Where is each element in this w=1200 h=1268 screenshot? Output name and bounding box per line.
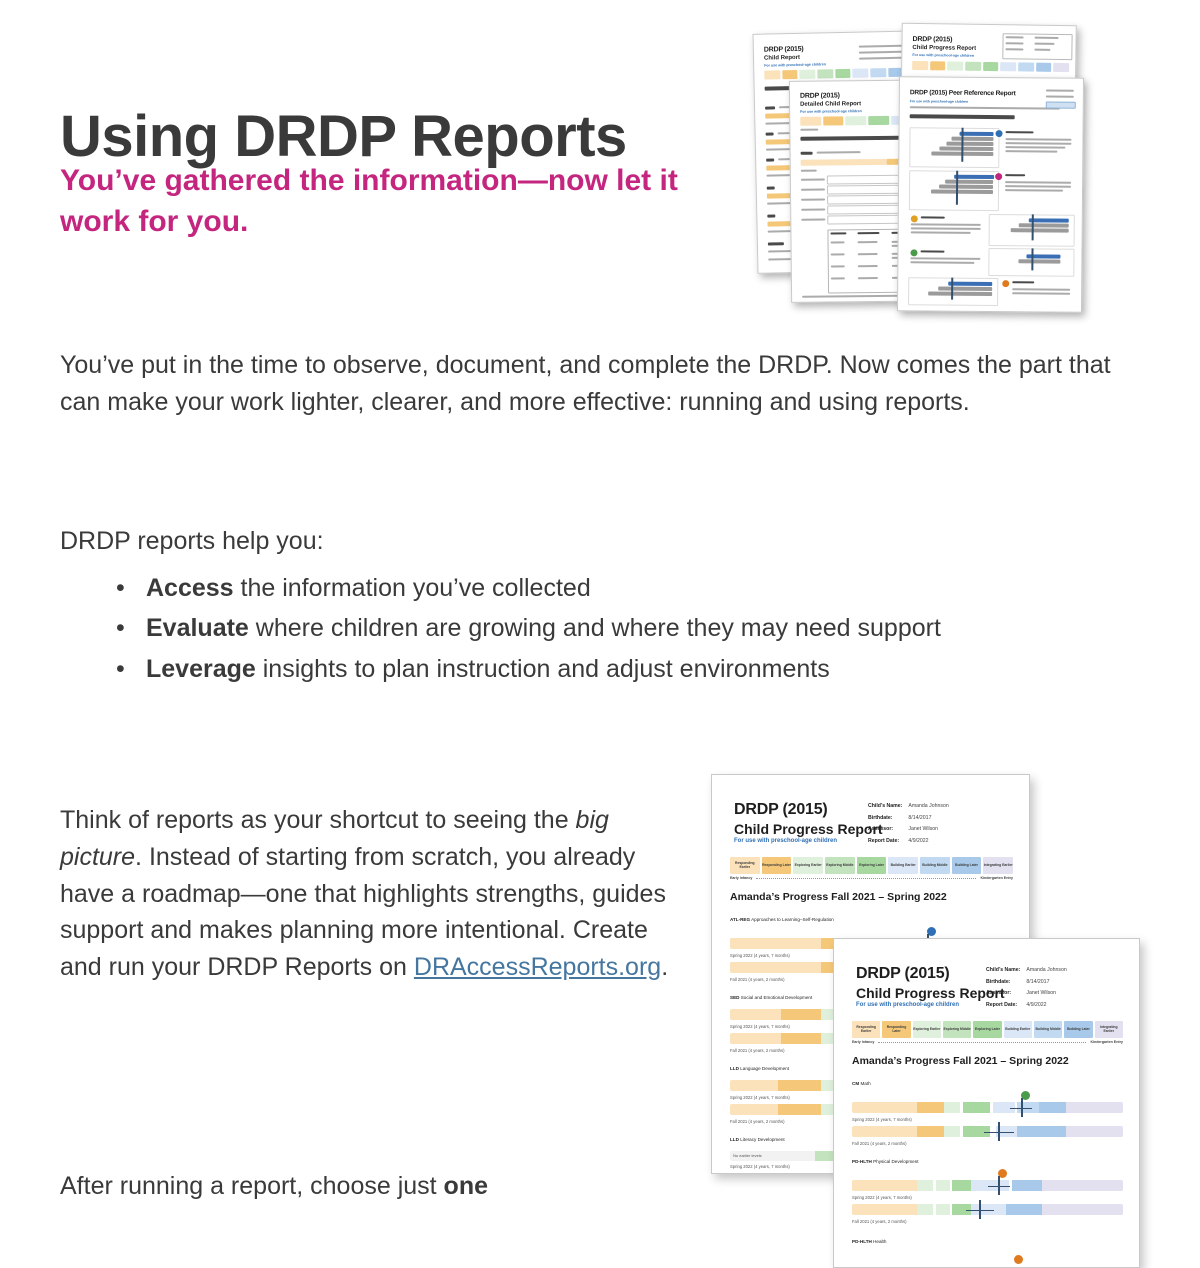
peer-desc bbox=[1005, 181, 1071, 183]
table-cell bbox=[831, 253, 845, 255]
collage-card-note: For use with preschool-age children bbox=[764, 62, 826, 67]
report-meta: Child’s Name: Amanda Johnson Birthdate: … bbox=[986, 965, 1061, 1012]
row-label bbox=[801, 209, 825, 211]
think-part1: Think of reports as your shortcut to see… bbox=[60, 806, 576, 834]
rating-marker bbox=[998, 1122, 1000, 1141]
meta-line bbox=[1005, 42, 1023, 44]
collage-card-note: For use with preschool-age children bbox=[910, 99, 968, 104]
bar-caption: Fall 2021 (4 years, 2 months) bbox=[730, 1048, 784, 1053]
axis-dots bbox=[756, 877, 976, 879]
meta-key: Birthdate: bbox=[986, 977, 1020, 989]
meta-line bbox=[1034, 43, 1054, 45]
peer-label bbox=[920, 250, 944, 252]
peer-desc bbox=[911, 227, 981, 229]
after-paragraph: After running a report, choose just one bbox=[60, 1168, 675, 1205]
bar-caption: Fall 2021 (4 years, 2 months) bbox=[730, 1119, 784, 1124]
peer-marker bbox=[956, 171, 958, 205]
page-subtitle: You’ve gathered the information—now let … bbox=[60, 160, 680, 243]
domain-code: LLD bbox=[730, 1066, 739, 1071]
bar-caption: Fall 2021 (4 years, 2 months) bbox=[852, 1219, 906, 1224]
bar-caption: Spring 2022 (4 years, 7 months) bbox=[852, 1117, 912, 1122]
meta-value: Janet Wilson bbox=[908, 824, 948, 836]
legend-segment: Building Earlier bbox=[1004, 1021, 1032, 1038]
domain-code: ATL-REG bbox=[730, 917, 750, 922]
peer-desc bbox=[1005, 138, 1071, 140]
meta-line bbox=[1005, 48, 1023, 50]
domain-name: Physical Development bbox=[873, 1159, 918, 1164]
collage-card-note: For use with preschool-age children bbox=[800, 109, 862, 114]
list-item: • Leverage insights to plan instruction … bbox=[146, 651, 1186, 688]
bar-caption: Spring 2022 (4 years, 7 months) bbox=[852, 1195, 912, 1200]
report-title: DRDP (2015) bbox=[734, 801, 828, 819]
no-rating-label: No earlier levels bbox=[733, 1153, 762, 1158]
rating-bar bbox=[801, 159, 887, 166]
rating-bar bbox=[852, 1102, 1123, 1113]
table-cell bbox=[858, 253, 878, 255]
legend-segment: Exploring Earlier bbox=[793, 857, 823, 874]
domain-badge bbox=[995, 173, 1002, 180]
peer-desc bbox=[1005, 146, 1065, 148]
peer-label bbox=[921, 216, 945, 218]
domain-name: Approaches to Learning–Self-Regulation bbox=[751, 917, 834, 922]
collage-card-note: For use with preschool-age children bbox=[912, 53, 974, 58]
table-cell bbox=[858, 277, 878, 279]
legend-segment: Building Middle bbox=[1034, 1021, 1062, 1038]
table-header bbox=[830, 232, 846, 234]
table-cell bbox=[831, 277, 845, 279]
domain-code: CM bbox=[852, 1081, 859, 1086]
peer-marker bbox=[1031, 248, 1033, 270]
domain-code: PD-HLTH bbox=[852, 1239, 872, 1244]
bar-caption: Spring 2022 (4 years, 7 months) bbox=[730, 1024, 790, 1029]
domain-name: Language Development bbox=[740, 1066, 789, 1071]
bar-caption: Spring 2022 (4 years, 7 months) bbox=[730, 1095, 790, 1100]
rating-marker bbox=[998, 1176, 1000, 1195]
footer-line bbox=[802, 295, 902, 298]
report-subtitle: Child Progress Report bbox=[734, 821, 883, 837]
report-heading: Amanda’s Progress Fall 2021 – Spring 202… bbox=[852, 1055, 1069, 1067]
intro-paragraph: You’ve put in the time to observe, docum… bbox=[60, 347, 1135, 421]
meta-value: Janet Wilson bbox=[1026, 988, 1066, 1000]
peer-desc bbox=[1012, 288, 1070, 290]
domain-code bbox=[766, 132, 774, 135]
legend-segment: Integrating Earlier bbox=[983, 857, 1013, 874]
legend-scale: Responding Earlier Responding Later Expl… bbox=[852, 1021, 1123, 1038]
think-part3: . bbox=[661, 953, 668, 981]
collage-card-title: DRDP (2015) bbox=[800, 92, 840, 99]
domain-code bbox=[801, 152, 813, 155]
axis-left-label: Early Infancy bbox=[852, 1040, 874, 1044]
domain-name: Health bbox=[873, 1239, 886, 1244]
domain-code: SED bbox=[730, 995, 739, 1000]
meta-key: Child’s Name: bbox=[986, 965, 1020, 977]
domain-name: Math bbox=[860, 1081, 870, 1086]
after-bold: one bbox=[444, 1172, 488, 1200]
legend-segment: Building Later bbox=[952, 857, 982, 874]
collage-card-subtitle: Child Progress Report bbox=[912, 45, 976, 52]
peer-desc bbox=[911, 231, 971, 233]
domain-name bbox=[817, 151, 861, 153]
report-samples-collage: DRDP (2015) Child Report For use with pr… bbox=[735, 22, 1095, 312]
meta-value: 4/9/2022 bbox=[908, 836, 948, 848]
report-card-front: DRDP (2015) Child Progress Report For us… bbox=[833, 938, 1140, 1268]
legend-segment: Building Middle bbox=[920, 857, 950, 874]
list-item-rest: insights to plan instruction and adjust … bbox=[256, 655, 830, 683]
domain-label: PD-HLTH Health bbox=[852, 1239, 886, 1244]
peer-desc bbox=[1005, 185, 1071, 187]
meta-value: Amanda Johnson bbox=[908, 801, 948, 813]
domain-name: Literacy Development bbox=[740, 1137, 784, 1142]
legend-scale bbox=[764, 67, 921, 79]
domain-code bbox=[768, 242, 784, 245]
note-line bbox=[910, 106, 1060, 109]
peer-desc bbox=[1012, 292, 1070, 294]
bar-caption: Fall 2021 (4 years, 2 months) bbox=[730, 977, 784, 982]
domain-label: PD-HLTH Physical Development bbox=[852, 1159, 919, 1164]
legend-segment: Integrating Earlier bbox=[1095, 1021, 1123, 1038]
peer-marker bbox=[951, 278, 953, 300]
peer-marker bbox=[961, 128, 963, 162]
domain-code: PD-HLTH bbox=[852, 1159, 872, 1164]
collage-card-subtitle: Child Report bbox=[764, 55, 800, 62]
document-page: Using DRDP Reports You’ve gathered the i… bbox=[0, 0, 1200, 1200]
axis-left-label: Early Infancy bbox=[730, 876, 752, 880]
legend-segment: Responding Later bbox=[882, 1021, 910, 1038]
list-item-lead: Leverage bbox=[146, 655, 256, 683]
table-cell bbox=[858, 241, 878, 243]
domain-code bbox=[767, 214, 775, 217]
domain-label: SED Social and Emotional Development bbox=[730, 995, 812, 1000]
bar-caption: Spring 2022 (4 years, 7 months) bbox=[730, 1164, 790, 1169]
report-meta: Child’s Name: Amanda Johnson Birthdate: … bbox=[868, 801, 943, 848]
report-subtitle: Child Progress Report bbox=[856, 985, 1005, 1001]
legend-segment: Responding Earlier bbox=[852, 1021, 880, 1038]
meta-value: Amanda Johnson bbox=[1026, 965, 1066, 977]
legend-segment: Exploring Middle bbox=[825, 857, 855, 874]
collage-card-subtitle: Detailed Child Report bbox=[800, 101, 861, 108]
collage-card-peer-reference-report: DRDP (2015) Peer Reference Report For us… bbox=[897, 76, 1084, 313]
meta-line bbox=[1006, 36, 1024, 38]
peer-marker bbox=[1032, 214, 1034, 240]
report-heading: Amanda’s Progress Fall 2021 – Spring 202… bbox=[730, 891, 947, 903]
meta-line bbox=[1035, 37, 1059, 39]
bar-caption: Spring 2022 (4 years, 7 months) bbox=[730, 953, 790, 958]
legend-segment: Responding Earlier bbox=[730, 857, 760, 874]
meta-key: Assessor: bbox=[986, 988, 1020, 1000]
domain-label: LLD Literacy Development bbox=[730, 1137, 785, 1142]
domain-label: CM Math bbox=[852, 1081, 871, 1086]
report-title: DRDP (2015) bbox=[856, 965, 950, 983]
legend-segment: Building Later bbox=[1064, 1021, 1092, 1038]
row-label bbox=[801, 179, 825, 181]
domain-badge bbox=[1014, 1255, 1023, 1264]
domain-code bbox=[766, 158, 774, 161]
peer-desc bbox=[1005, 189, 1063, 191]
domain-code bbox=[765, 106, 775, 109]
bullet-icon: • bbox=[116, 570, 125, 607]
meta-line bbox=[1046, 95, 1074, 97]
domain-name: Social and Emotional Development bbox=[741, 995, 813, 1000]
meta-key: Report Date: bbox=[868, 836, 902, 848]
legend-axis: Early Infancy Kindergarten Entry bbox=[730, 876, 1013, 880]
peer-desc bbox=[910, 257, 980, 259]
domain-badge bbox=[996, 130, 1003, 137]
legend-segment: Exploring Middle bbox=[943, 1021, 971, 1038]
legend-scale: Responding Earlier Responding Later Expl… bbox=[730, 857, 1013, 874]
domain-code: LLD bbox=[730, 1137, 739, 1142]
peer-desc bbox=[1005, 142, 1071, 144]
legend-scale bbox=[912, 61, 1069, 72]
list-item-lead: Access bbox=[146, 574, 234, 602]
draccessreports-link[interactable]: DRAccessReports.org bbox=[414, 953, 661, 981]
list-item-rest: the information you’ve collected bbox=[234, 574, 591, 602]
legend-axis: Early Infancy Kindergarten Entry bbox=[852, 1040, 1123, 1044]
domain-badge bbox=[911, 215, 918, 222]
report-note: For use with preschool-age children bbox=[856, 1002, 959, 1008]
meta-value: 8/14/2017 bbox=[1026, 977, 1066, 989]
collage-card-title: DRDP (2015) bbox=[764, 46, 804, 54]
domain-label: LLD Language Development bbox=[730, 1066, 789, 1071]
collage-card-title: DRDP (2015) bbox=[913, 36, 953, 44]
meta-value: 4/9/2022 bbox=[1026, 1000, 1066, 1012]
list-lead-in: DRDP reports help you: bbox=[60, 523, 760, 560]
rating-marker bbox=[1021, 1098, 1023, 1117]
table-cell bbox=[831, 241, 845, 243]
meta-badge bbox=[1046, 101, 1076, 108]
list-item: • Access the information you’ve collecte… bbox=[146, 570, 1186, 607]
legend-segment: Exploring Earlier bbox=[913, 1021, 941, 1038]
rating-marker bbox=[979, 1200, 981, 1219]
bar-caption: Fall 2021 (4 years, 2 months) bbox=[852, 1141, 906, 1146]
bullet-icon: • bbox=[116, 610, 125, 647]
peer-desc bbox=[910, 261, 974, 263]
meta-key: Report Date: bbox=[986, 1000, 1020, 1012]
axis-dots bbox=[878, 1041, 1086, 1043]
table-header bbox=[857, 232, 879, 234]
peer-label bbox=[1006, 131, 1034, 133]
meta-value: 8/14/2017 bbox=[908, 813, 948, 825]
table-cell bbox=[831, 265, 845, 267]
row-label bbox=[801, 170, 817, 172]
legend-segment: Responding Later bbox=[762, 857, 792, 874]
domain-label: ATL-REG Approaches to Learning–Self-Regu… bbox=[730, 917, 834, 922]
axis-right-label: Kindergarten Entry bbox=[980, 876, 1013, 880]
benefits-list: • Access the information you’ve collecte… bbox=[100, 570, 1186, 691]
legend-segment: Building Earlier bbox=[888, 857, 918, 874]
peer-desc bbox=[911, 223, 981, 225]
table-cell bbox=[858, 265, 878, 267]
list-item-lead: Evaluate bbox=[146, 614, 249, 642]
row-label bbox=[801, 199, 825, 201]
list-item: • Evaluate where children are growing an… bbox=[146, 610, 1186, 647]
peer-label bbox=[1012, 281, 1034, 283]
meta-line bbox=[1046, 89, 1074, 91]
axis-right-label: Kindergarten Entry bbox=[1090, 1040, 1123, 1044]
meta-line bbox=[859, 57, 907, 60]
meta-key: Birthdate: bbox=[868, 813, 902, 825]
page-title: Using DRDP Reports bbox=[60, 107, 627, 168]
think-paragraph: Think of reports as your shortcut to see… bbox=[60, 802, 675, 986]
collage-card-heading bbox=[910, 114, 1015, 119]
list-item-rest: where children are growing and where the… bbox=[249, 614, 941, 642]
domain-badge bbox=[910, 249, 917, 256]
row-label bbox=[801, 219, 825, 221]
peer-label bbox=[1005, 174, 1025, 176]
meta-key: Assessor: bbox=[868, 824, 902, 836]
peer-desc bbox=[1005, 150, 1057, 152]
report-note: For use with preschool-age children bbox=[734, 838, 837, 844]
bullet-icon: • bbox=[116, 651, 125, 688]
domain-code bbox=[767, 186, 775, 189]
collage-card-title: DRDP (2015) Peer Reference Report bbox=[910, 89, 1016, 97]
domain-badge bbox=[1002, 280, 1009, 287]
after-part1: After running a report, choose just bbox=[60, 1172, 444, 1200]
legend-segment: Exploring Later bbox=[857, 857, 887, 874]
meta-line bbox=[1034, 49, 1050, 51]
row-label bbox=[801, 189, 825, 191]
axis-label bbox=[800, 129, 818, 131]
legend-segment: Exploring Later bbox=[973, 1021, 1001, 1038]
meta-key: Child’s Name: bbox=[868, 801, 902, 813]
